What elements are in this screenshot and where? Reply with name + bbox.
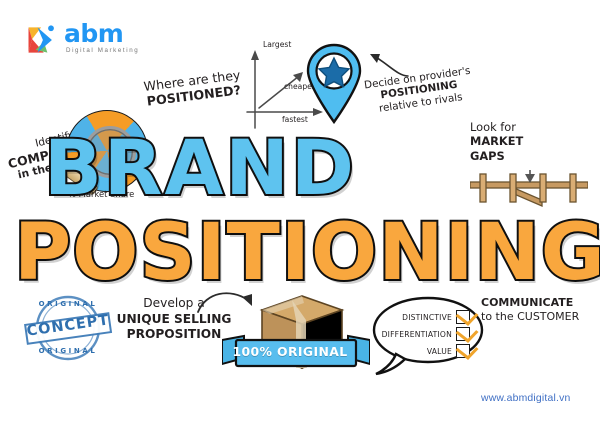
checkbox-checked-icon[interactable] (456, 327, 470, 341)
website-link[interactable]: www.abmdigital.vn (481, 393, 570, 404)
communicate-line-2: to the CUSTOMER (481, 310, 591, 324)
gaps-line-2: MARKET (470, 134, 570, 148)
checkbox-checked-icon[interactable] (456, 310, 470, 324)
checklist-item-1[interactable]: DIFFERENTIATION (384, 327, 470, 341)
logo-wordmark: abm (64, 20, 123, 48)
usp-line-3: PROPOSITION (112, 327, 236, 343)
communicate-annotation: COMMUNICATE to the CUSTOMER (481, 296, 591, 325)
page-title-brand: BRAND (44, 123, 356, 212)
fence-gap-icon (470, 170, 588, 208)
infographic-canvas: abm Digital Marketing Identify COMPETITO… (0, 0, 600, 421)
gaps-line-1: Look for (470, 120, 570, 134)
market-gaps-annotation: Look for MARKET GAPS (470, 120, 570, 163)
checkbox-checked-icon[interactable] (456, 344, 470, 358)
down-arrow-icon (525, 170, 535, 183)
gaps-line-3: GAPS (470, 149, 570, 163)
page-title-positioning: POSITIONING (14, 208, 600, 298)
abm-logo[interactable]: abm Digital Marketing (24, 20, 154, 60)
checklist-item-0[interactable]: DISTINCTIVE (384, 310, 470, 324)
original-concept-stamp: ORIGINAL ORIGINAL CONCEPT (22, 292, 114, 364)
stamp-top-text: ORIGINAL (26, 300, 110, 308)
ribbon-text: 100% ORIGINAL (228, 344, 352, 359)
original-box-graphic: 100% ORIGINAL (246, 294, 358, 370)
stamp-bottom-text: ORIGINAL (26, 347, 110, 355)
logo-tagline: Digital Marketing (66, 47, 139, 54)
where-positioned-annotation: Where are they POSITIONED? (132, 67, 255, 111)
checklist-label-1: DIFFERENTIATION (382, 330, 452, 339)
checklist-label-2: VALUE (427, 347, 452, 356)
abm-arrow-logo-mark (24, 22, 60, 58)
fence-gap-graphic (470, 170, 588, 208)
communicate-line-1: COMMUNICATE (481, 296, 591, 310)
benefits-speech-bubble: DISTINCTIVE DIFFERENTIATION VALUE (372, 296, 484, 374)
checklist-label-0: DISTINCTIVE (402, 313, 452, 322)
checklist-item-2[interactable]: VALUE (384, 344, 470, 358)
axis-label-largest: Largest (263, 40, 291, 49)
